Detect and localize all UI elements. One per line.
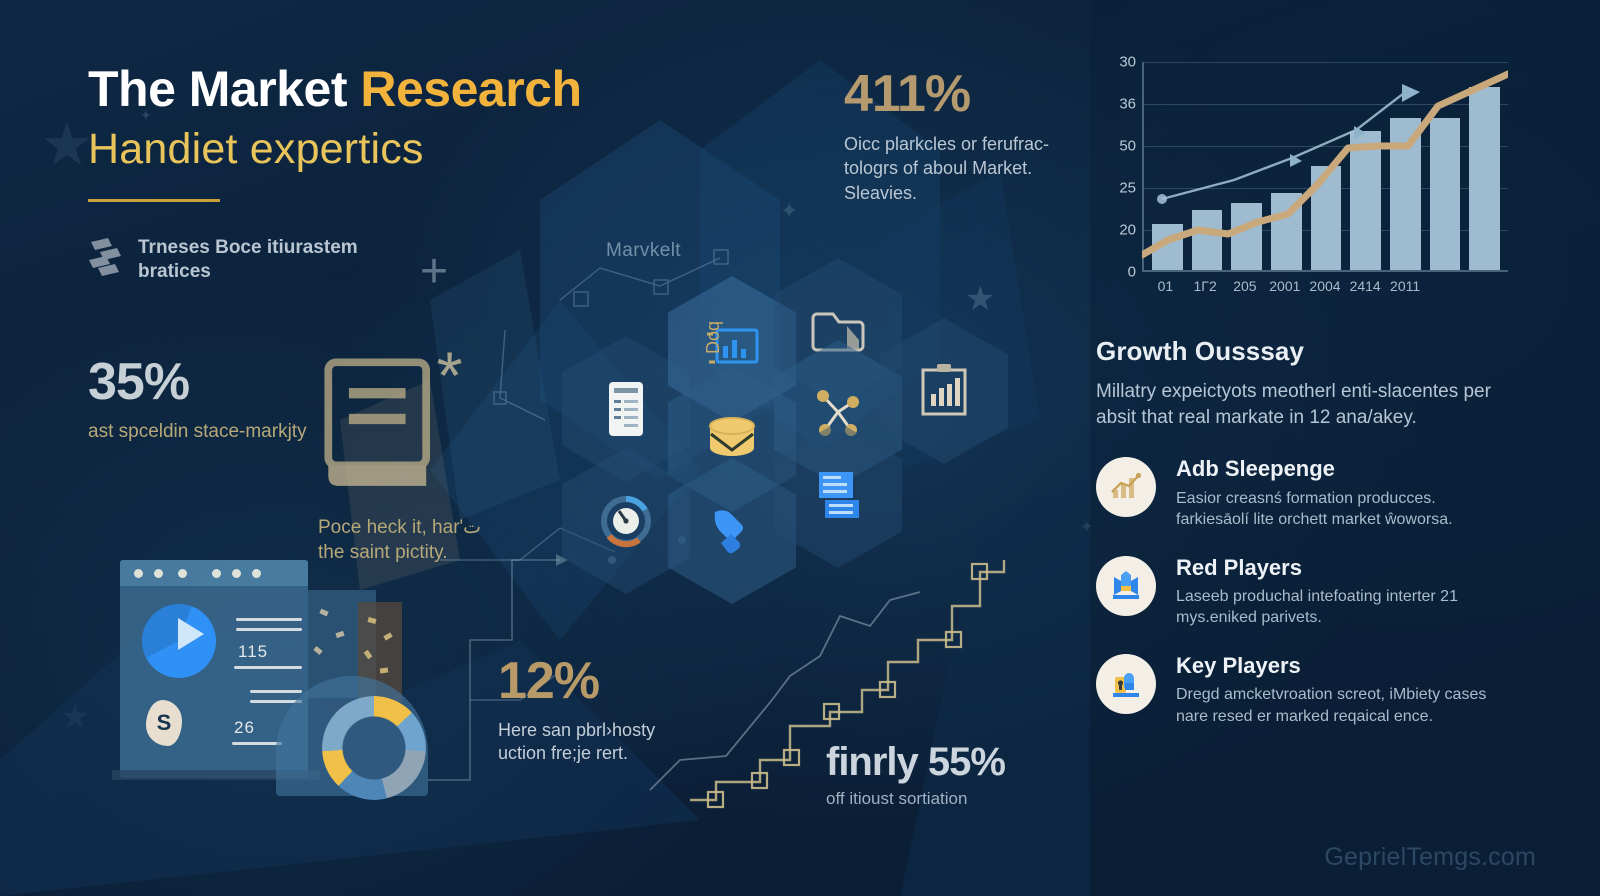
center-watermark-label: Marvkelt <box>606 240 681 262</box>
page-headline: The Market Research Handiet expertics <box>88 62 582 202</box>
section-body: Millatry expeictyots meotherl enti-slace… <box>1096 379 1496 431</box>
chart-x-tick <box>1469 278 1500 294</box>
chart-y-axis: 30365025200 <box>1096 62 1142 272</box>
chart-y-tick: 36 <box>1119 96 1136 113</box>
pie-play-icon <box>142 604 216 678</box>
stat-411-caption: Oicc plarkcles or ferufrac- tologrs of a… <box>844 132 1054 205</box>
feature-item-desc: Dregd amcketvroation screot, iMbiety cas… <box>1176 684 1506 726</box>
zigzag-bars-icon <box>88 236 122 276</box>
document-lines-icon <box>807 464 869 526</box>
stat-12-value: 12% <box>498 655 708 707</box>
chart-y-tick: 30 <box>1119 54 1136 71</box>
svg-text:*: * <box>436 352 462 413</box>
svg-text:Doq: Doq <box>703 321 723 354</box>
stat-55-caption: off itioust sortiation <box>826 788 1005 810</box>
dashboard-value-top: 115 <box>238 642 268 662</box>
dashboard-value-bottom: 26 <box>234 718 255 738</box>
gauge-icon <box>595 490 657 552</box>
chart-x-tick: 01 <box>1150 278 1181 294</box>
clipboard-chart-icon <box>913 360 975 422</box>
hexagon-cluster: Marvkelt Doq <box>498 262 1058 652</box>
stat-55: finrly 55% off itioust sortiation <box>826 742 1005 810</box>
feature-item-body: Adb SleepengeEasior creasnś formation pr… <box>1176 457 1506 529</box>
server-list-icon <box>595 378 657 440</box>
book-asterisk-icon: * <box>318 483 488 500</box>
feature-item-body: Red PlayersLaseeb produchal intefoating … <box>1176 556 1506 628</box>
right-panel: 30365025200 011Γ22052001200424142011 Gro… <box>1096 62 1536 727</box>
stat-55-value: finrly 55% <box>826 742 1005 782</box>
podium-icon <box>1096 556 1156 616</box>
page-title: The Market Research <box>88 62 582 116</box>
title-part1: The Market <box>88 61 360 117</box>
chart-trend-lines <box>1142 62 1508 272</box>
infographic-canvas: ★ ★ ✦ ✦ ✦ ★ <box>0 0 1600 896</box>
stat-12: 12% Here san pbrl›hosty uction fre;je re… <box>498 655 708 766</box>
chart-x-tick: 2011 <box>1390 278 1421 294</box>
tagline-text: Trneses Boce itiurastem bratices <box>138 236 418 285</box>
chart-x-tick: 2001 <box>1269 278 1300 294</box>
plus-icon: + <box>420 248 448 296</box>
feature-item-body: Key PlayersDregd amcketvroation screot, … <box>1176 654 1506 726</box>
site-watermark: GeprielTemgs.com <box>1324 843 1536 872</box>
chart-x-tick: 205 <box>1230 278 1261 294</box>
book-note: * Poce heck it, har'ت the saint pictity. <box>318 352 488 565</box>
chart-x-labels: 011Γ22052001200424142011 <box>1142 278 1508 294</box>
feature-item-title: Key Players <box>1176 654 1506 678</box>
feature-item[interactable]: Adb SleepengeEasior creasnś formation pr… <box>1096 457 1536 529</box>
stat-411-value: 411% <box>844 68 1054 120</box>
feature-item[interactable]: Red PlayersLaseeb produchal intefoating … <box>1096 556 1536 628</box>
stat-12-caption: Here san pbrl›hosty uction fre;je rert. <box>498 719 708 766</box>
chart-y-tick: 0 <box>1128 264 1136 281</box>
growth-chart-icon <box>1096 457 1156 517</box>
title-divider <box>88 199 220 202</box>
chart-x-tick: 1Γ2 <box>1190 278 1221 294</box>
feature-item-title: Adb Sleepenge <box>1176 457 1506 481</box>
chart-x-tick <box>1429 278 1460 294</box>
dashboard-titlebar <box>120 560 308 586</box>
feature-item-title: Red Players <box>1176 556 1506 580</box>
feature-item[interactable]: Key PlayersDregd amcketvroation screot, … <box>1096 654 1536 726</box>
stat-35: 35% ast spceldin stace-markjty <box>88 356 307 445</box>
chart-y-tick: 50 <box>1119 138 1136 155</box>
dashboard-mockup: 115 S 26 <box>112 556 422 796</box>
growth-bar-chart: 30365025200 011Γ22052001200424142011 <box>1096 62 1508 308</box>
chart-y-tick: 20 <box>1119 222 1136 239</box>
section-title: Growth Ousssay <box>1096 336 1536 367</box>
donut-chart-icon <box>322 696 426 800</box>
page-subtitle: Handiet expertics <box>88 126 582 173</box>
feature-list: Adb SleepengeEasior creasnś formation pr… <box>1096 457 1536 726</box>
handshake-icon <box>701 500 763 562</box>
stat-35-caption: ast spceldin stace-markjty <box>88 420 307 445</box>
chart-y-tick: 25 <box>1119 180 1136 197</box>
stat-35-value: 35% <box>88 356 307 408</box>
tagline: Trneses Boce itiurastem bratices <box>88 236 418 285</box>
title-accent: Research <box>360 61 581 117</box>
feature-item-desc: Easior creasnś formation producces. fark… <box>1176 488 1506 530</box>
stat-411: 411% Oicc plarkcles or ferufrac- tologrs… <box>844 68 1054 205</box>
chart-x-tick: 2004 <box>1309 278 1340 294</box>
chart-x-tick: 2414 <box>1350 278 1381 294</box>
dashboard-badge: S <box>146 700 182 746</box>
key-lock-icon <box>1096 654 1156 714</box>
feature-item-desc: Laseeb produchal intefoating interter 21… <box>1176 586 1506 628</box>
